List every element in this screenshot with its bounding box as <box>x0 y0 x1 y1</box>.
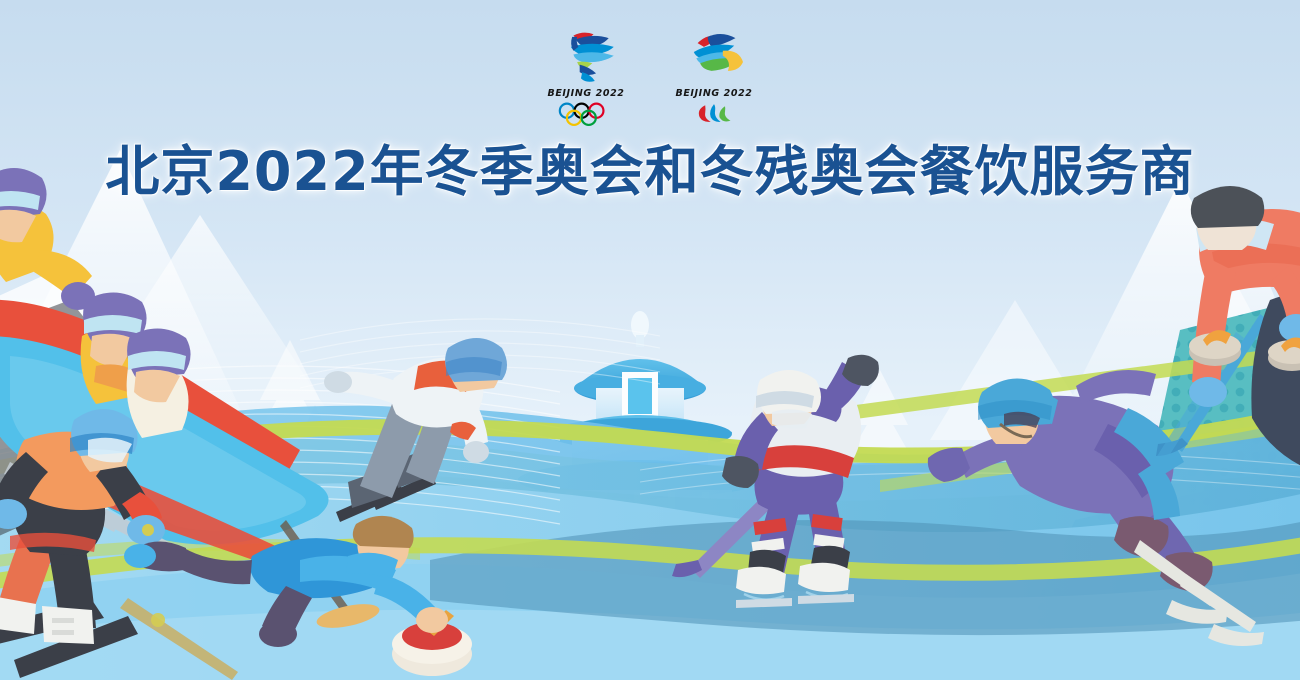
flying-high-emblem-icon <box>676 28 752 86</box>
paralympic-wordmark: BEIJING 2022 <box>675 88 752 100</box>
olympic-wordmark: BEIJING 2022 <box>547 88 624 100</box>
beijing-2022-banner: BEIJING 2022 BEIJING 20 <box>0 0 1300 680</box>
olympic-emblem: BEIJING 2022 <box>540 28 632 126</box>
olympic-rings-icon <box>555 102 617 126</box>
page-title: 北京2022年冬季奥会和冬残奥会餐饮服务商 <box>0 142 1300 201</box>
emblem-row: BEIJING 2022 BEIJING 20 <box>0 28 1300 126</box>
winter-dream-emblem-icon <box>548 28 624 86</box>
agitos-icon <box>692 103 736 125</box>
paralympic-emblem: BEIJING 2022 <box>668 28 760 125</box>
